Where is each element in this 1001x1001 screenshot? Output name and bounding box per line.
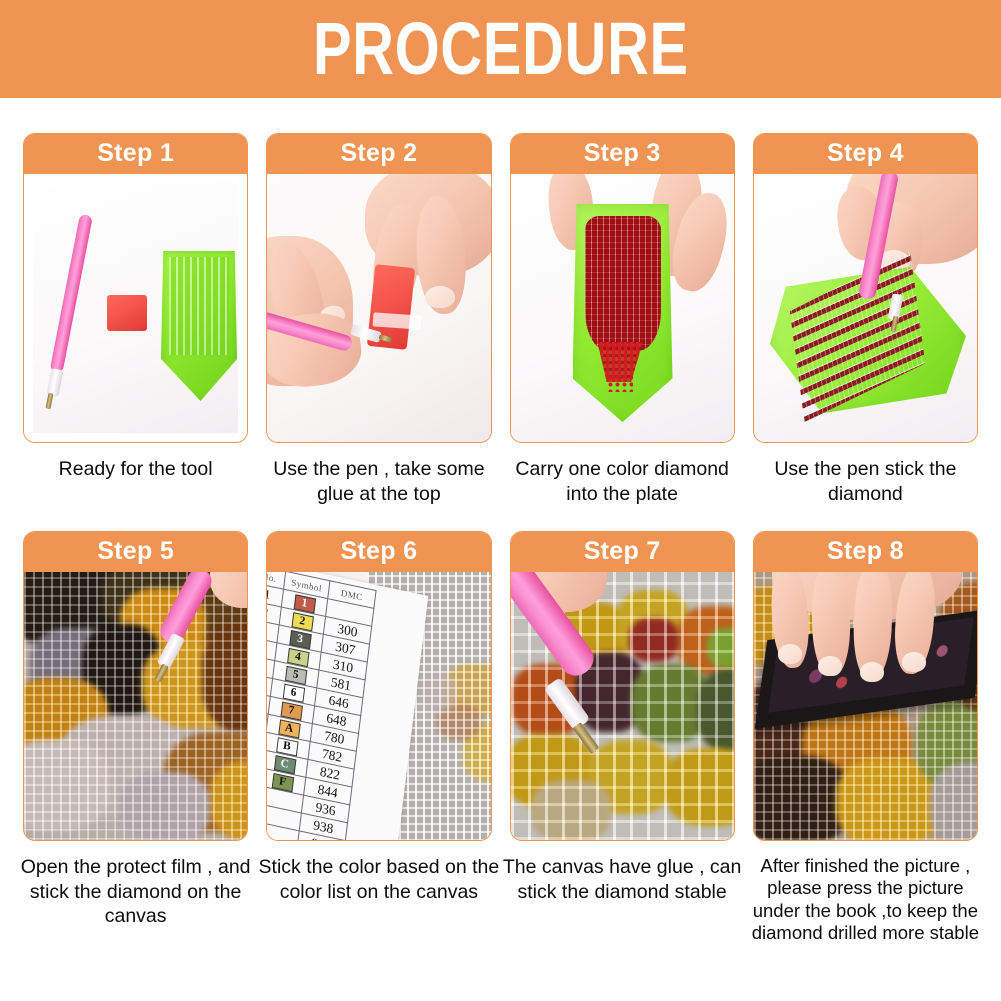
step-card-6[interactable]: Step 6	[266, 531, 491, 841]
step-card-1[interactable]: Step 1	[23, 133, 248, 443]
step-cell-4: Step 4	[744, 133, 987, 506]
color-legend-rows: No.SymbolDMC1122300333074431055581666467…	[267, 572, 376, 840]
step-badge-7: Step 7	[510, 531, 735, 572]
step-caption-3: Carry one color diamond into the plate	[499, 457, 745, 506]
step-card-4[interactable]: Step 4	[753, 133, 978, 443]
step-photo-8	[754, 572, 977, 840]
step-card-5[interactable]: Step 5	[23, 531, 248, 841]
step-photo-6: No.SymbolDMC1122300333074431055581666467…	[267, 572, 490, 840]
step-caption-2: Use the pen , take some glue at the top	[256, 457, 502, 506]
steps-grid: Step 1 Ready for	[0, 133, 1001, 944]
step-cell-7: Step 7	[501, 531, 744, 944]
step-photo-1	[24, 174, 247, 442]
step-badge-1: Step 1	[23, 133, 248, 174]
step-card-7[interactable]: Step 7	[510, 531, 735, 841]
color-legend-table: No.SymbolDMC1122300333074431055581666467…	[267, 572, 377, 840]
step-card-3[interactable]: Step 3	[510, 133, 735, 443]
step-cell-2: Step 2	[257, 133, 500, 506]
page-header-banner: PROCEDURE	[0, 0, 1001, 98]
step-photo-7	[511, 572, 734, 840]
step-photo-4	[754, 174, 977, 442]
step-caption-7: The canvas have glue , can stick the dia…	[499, 855, 745, 904]
step-caption-6: Stick the color based on the color list …	[256, 855, 502, 904]
step-photo-3	[511, 174, 734, 442]
step-badge-3: Step 3	[510, 133, 735, 174]
step-cell-5: Step 5	[14, 531, 257, 944]
step-photo-5	[24, 572, 247, 840]
step-cell-8: Step 8	[744, 531, 987, 944]
step-card-8[interactable]: Step 8	[753, 531, 978, 841]
step-badge-4: Step 4	[753, 133, 978, 174]
step-badge-8: Step 8	[753, 531, 978, 572]
step-photo-2	[267, 174, 490, 442]
page-title: PROCEDURE	[313, 12, 689, 86]
steps-row-top: Step 1 Ready for	[14, 133, 987, 506]
step-cell-6: Step 6	[257, 531, 500, 944]
step-badge-2: Step 2	[266, 133, 491, 174]
step-badge-5: Step 5	[23, 531, 248, 572]
red-diamonds-icon	[585, 216, 661, 351]
step-caption-5: Open the protect film , and stick the di…	[13, 855, 259, 929]
step-cell-1: Step 1 Ready for	[14, 133, 257, 506]
step-badge-6: Step 6	[266, 531, 491, 572]
step-cell-3: Step 3	[501, 133, 744, 506]
step-caption-4: Use the pen stick the diamond	[742, 457, 988, 506]
step-card-2[interactable]: Step 2	[266, 133, 491, 443]
red-glue-square-icon	[107, 295, 147, 331]
steps-row-bottom: Step 5	[14, 531, 987, 944]
step-caption-1: Ready for the tool	[13, 457, 259, 482]
step-caption-8: After finished the picture , please pres…	[742, 855, 988, 944]
